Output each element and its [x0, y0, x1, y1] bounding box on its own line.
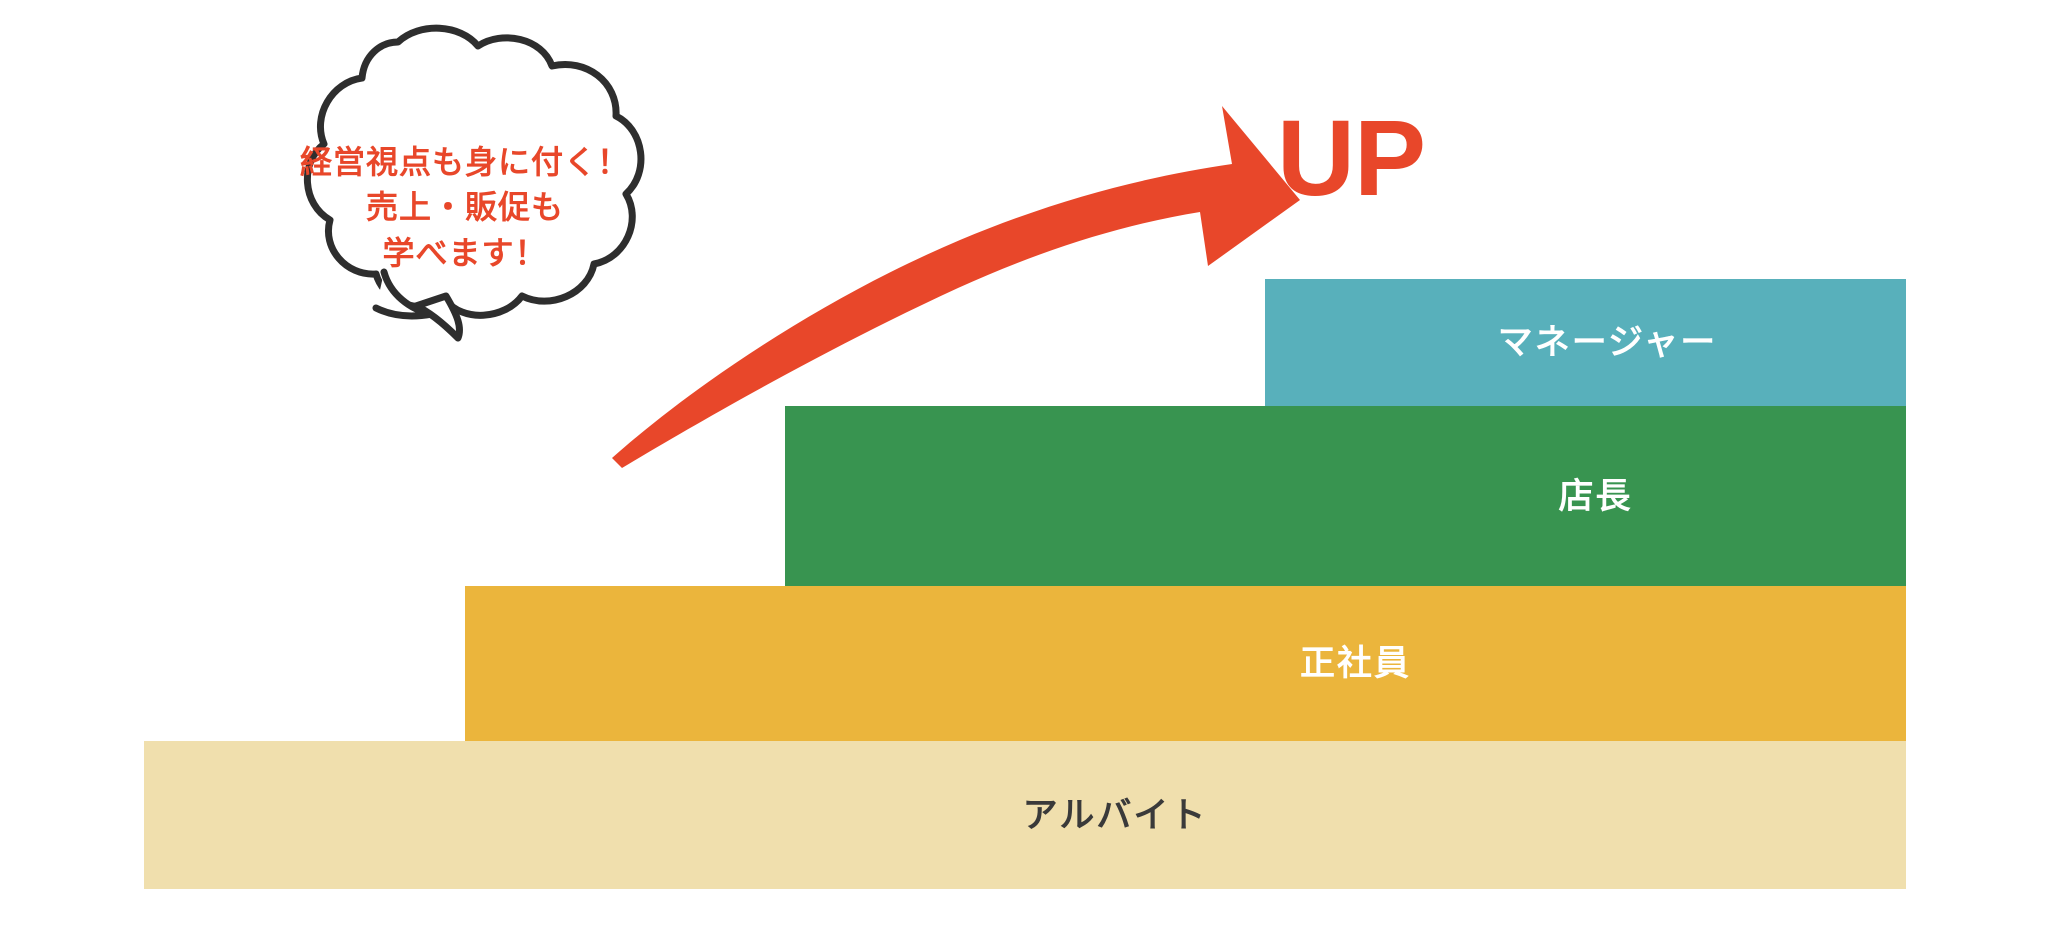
step-bar-seishain: 正社員 [465, 586, 1906, 741]
up-headline: UP [1277, 104, 1425, 212]
step-bar-arbeit: アルバイト [144, 741, 1906, 889]
bubble-line-1: 経営視点も身に付く！ [300, 140, 630, 185]
step-bar-manager: マネージャー [1265, 279, 1906, 406]
bubble-text-block: 経営視点も身に付く！ 売上・販促も 学べます！ [300, 140, 630, 276]
step-label-manager: マネージャー [1498, 325, 1718, 360]
bubble-line-3: 学べます！ [300, 231, 630, 276]
step-label-seishain: 正社員 [1300, 646, 1411, 681]
step-label-tencho: 店長 [1558, 479, 1632, 514]
career-step-diagram: アルバイト 正社員 店長 マネージャー 経営視点も身に付く！ 売上・販促も 学べ… [0, 0, 2048, 928]
bubble-line-2: 売上・販促も [300, 185, 630, 230]
step-label-arbeit: アルバイト [1023, 798, 1208, 833]
curved-growth-arrow-icon [560, 80, 1300, 480]
